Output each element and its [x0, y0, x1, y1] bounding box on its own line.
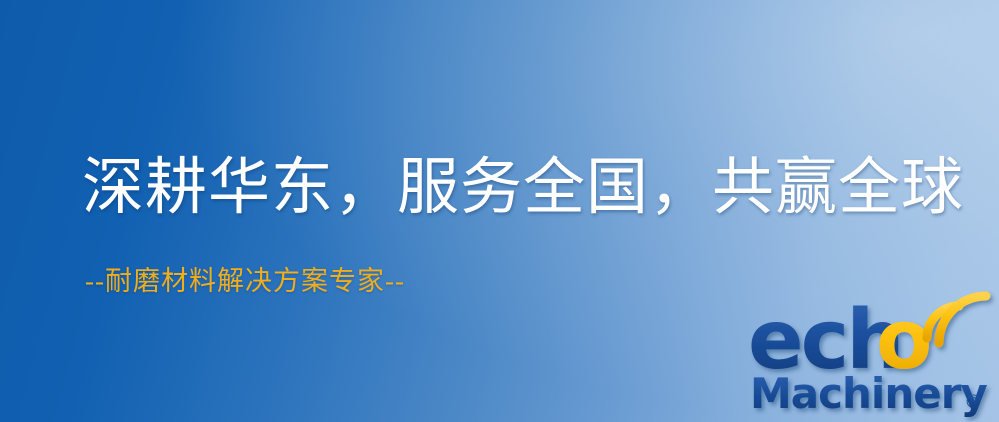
logo-machinery-wordmark: Machinery [750, 369, 987, 418]
hero-banner: 深耕华东，服务全国，共赢全球 --耐磨材料解决方案专家-- [0, 0, 999, 422]
banner-subtitle: --耐磨材料解决方案专家-- [85, 264, 405, 298]
signal-arcs-icon [927, 296, 986, 343]
banner-headline: 深耕华东，服务全国，共赢全球 [82, 152, 964, 224]
registered-trademark-icon: ® [964, 391, 983, 413]
echo-machinery-logo[interactable]: ech o Machinery ® [748, 296, 996, 418]
